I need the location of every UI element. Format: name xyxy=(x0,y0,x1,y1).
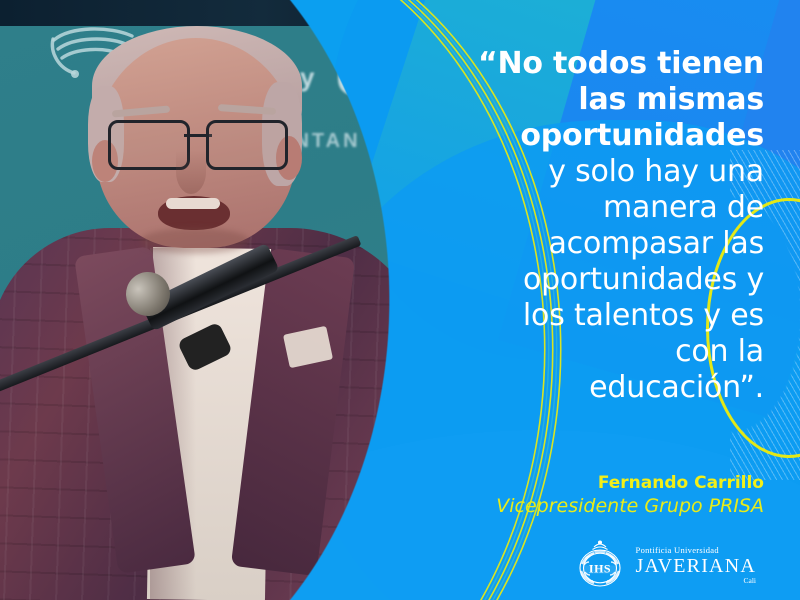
mouth xyxy=(158,196,230,230)
speaker-photo: PRISA y OEI RESENTAN xyxy=(0,0,440,600)
attribution: Fernando Carrillo Vicepresidente Grupo P… xyxy=(496,472,764,518)
javeriana-ihs-crest-icon: IHS xyxy=(573,538,627,592)
attribution-name: Fernando Carrillo xyxy=(496,472,764,494)
quote-line: las mismas xyxy=(440,82,764,118)
speaker-figure xyxy=(0,0,440,600)
teeth xyxy=(166,198,220,209)
nose xyxy=(176,150,206,194)
javeriana-logo-text: Pontificia Universidad JAVERIANA Cali xyxy=(636,546,756,585)
logo-line-cali: Cali xyxy=(636,577,756,585)
quote-line: educación”. xyxy=(440,370,764,406)
quote-text: “No todos tienen las mismas oportunidade… xyxy=(440,46,764,406)
lens-right xyxy=(206,120,288,170)
quote-line: con la xyxy=(440,334,764,370)
quote-card: PRISA y OEI RESENTAN xyxy=(0,0,800,600)
quote-line: manera de xyxy=(440,190,764,226)
chin-shadow xyxy=(140,228,250,254)
quote-line: oportunidades y xyxy=(440,262,764,298)
javeriana-logo: IHS Pontificia Universidad JAVERIANA Cal… xyxy=(573,538,756,592)
svg-text:IHS: IHS xyxy=(588,562,610,576)
attribution-role: Vicepresidente Grupo PRISA xyxy=(496,494,764,518)
photo-inner: PRISA y OEI RESENTAN xyxy=(0,0,440,600)
quote-line: “No todos tienen xyxy=(440,46,764,82)
quote-line: los talentos y es xyxy=(440,298,764,334)
quote-line: oportunidades xyxy=(440,118,764,154)
logo-line-javeriana: JAVERIANA xyxy=(636,556,756,576)
quote-line: y solo hay una xyxy=(440,154,764,190)
quote-line: acompasar las xyxy=(440,226,764,262)
logo-line-pontificia: Pontificia Universidad xyxy=(636,546,756,555)
